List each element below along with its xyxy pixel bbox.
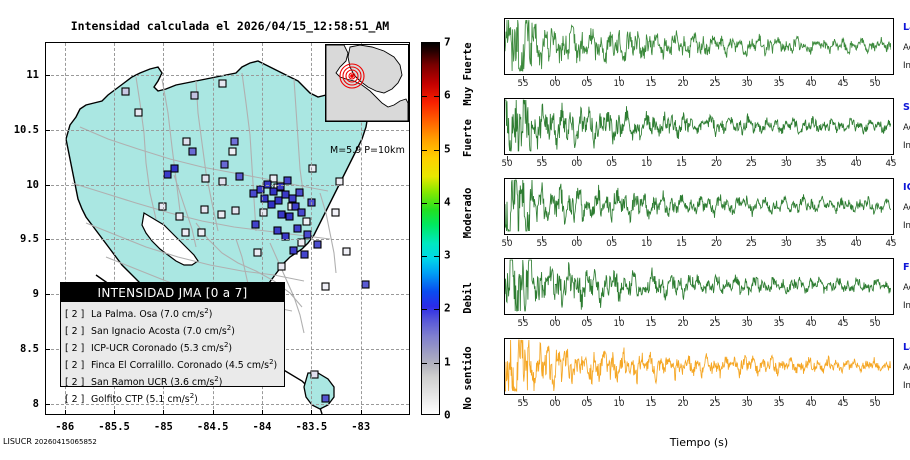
trace-station-name[interactable]: ICP-UCR Coronado (903, 182, 910, 193)
time-tick-label: 55 (518, 79, 529, 89)
trace-peak-accel: Acel. Max. 1.9 (903, 283, 910, 293)
y-tick-label-4: 9 (1, 288, 39, 300)
map-gridline-h (46, 239, 409, 240)
trace-jma-intensity: Int JMA: 2 (903, 61, 910, 71)
time-tick-label: 10 (614, 399, 625, 409)
colorbar-tick-right (434, 96, 439, 97)
colorbar-category-1: Fuerte (462, 119, 474, 157)
trace-jma-intensity: Int JMA: 2 (903, 221, 910, 231)
time-tick-label: 35 (774, 399, 785, 409)
time-tick-label: 45 (886, 239, 897, 249)
trace-time-axis: 505500051015202530354045 (504, 236, 894, 250)
colorbar-category-3: Debil (462, 282, 474, 314)
trace-station-name[interactable]: Finca El Corralillo, Coro (903, 262, 910, 273)
trace-peak-accel: Acel. Max. 1.9 (903, 203, 910, 213)
waveform (505, 19, 891, 72)
page-title: Intensidad calculada el 2026/04/15_12:58… (40, 19, 420, 33)
legend-row-close: ) (194, 394, 198, 405)
time-tick-label: 55 (518, 399, 529, 409)
y-tick-label-5: 8.5 (1, 343, 39, 355)
trace-time-axis: 550005101520253035404550 (504, 396, 894, 410)
trace-station-name[interactable]: La Sabana (903, 342, 910, 353)
colorbar-tick-0: 0 (444, 409, 451, 422)
time-tick-label: 55 (536, 239, 547, 249)
colorbar-tick-2: 2 (444, 302, 451, 315)
time-tick-label: 00 (571, 159, 582, 169)
x-tick (213, 410, 214, 415)
map-gridline-h (46, 130, 409, 131)
time-tick-label: 00 (550, 319, 561, 329)
intensity-map-panel: Intensidad calculada el 2026/04/15_12:58… (0, 0, 500, 460)
time-tick-label: 40 (851, 159, 862, 169)
time-tick-label: 15 (646, 399, 657, 409)
time-tick-label: 45 (886, 159, 897, 169)
time-tick-label: 35 (774, 79, 785, 89)
legend-row: [ 2 ]ICP-UCR Coronado (5.3 cm/s2) (65, 339, 284, 356)
time-tick-label: 55 (518, 319, 529, 329)
time-tick-label: 20 (711, 239, 722, 249)
seismogram-trace-frame[interactable] (504, 258, 894, 315)
legend-title: INTENSIDAD JMA [0 a 7] (61, 283, 284, 302)
x-tick (262, 410, 263, 415)
x-tick (311, 410, 312, 415)
watermark-stamp: 20260415065852 (34, 438, 96, 446)
legend-row-station: San Ignacio Acosta (7.0 cm/s (91, 326, 227, 337)
time-tick-label: 45 (838, 319, 849, 329)
time-tick-label: 45 (838, 399, 849, 409)
time-tick-label: 25 (710, 319, 721, 329)
colorbar-tick-right (434, 203, 439, 204)
x-tick (361, 410, 362, 415)
time-tick-label: 05 (606, 159, 617, 169)
time-tick-label: 20 (678, 319, 689, 329)
time-tick-label: 30 (781, 239, 792, 249)
x-tick-label-4: -84 (253, 421, 272, 433)
trace-jma-intensity: Int JMA: 2 (903, 301, 910, 311)
colorbar-category-2: Moderado (462, 187, 474, 238)
x-tick (114, 410, 115, 415)
x-tick-label-2: -85 (154, 421, 173, 433)
time-tick-label: 35 (816, 159, 827, 169)
time-tick-label: 00 (550, 79, 561, 89)
time-tick-label: 35 (774, 319, 785, 329)
regional-inset-map (325, 44, 409, 122)
seismogram-trace-frame[interactable] (504, 98, 894, 155)
colorbar-category-0: Muy Fuerte (462, 42, 474, 105)
intensity-colorbar (421, 42, 440, 415)
colorbar-tick-right (434, 309, 439, 310)
legend-row-station: Finca El Corralillo. Coronado (4.5 cm/s (91, 360, 269, 371)
time-tick-label: 45 (838, 79, 849, 89)
time-tick-label: 40 (806, 79, 817, 89)
time-tick-label: 05 (582, 399, 593, 409)
watermark: LISUCR 20260415065852 (3, 437, 97, 446)
time-tick-label: 20 (678, 79, 689, 89)
time-tick-label: 15 (646, 319, 657, 329)
time-tick-label: 50 (870, 319, 881, 329)
y-tick (45, 404, 50, 405)
colorbar-tick-left (422, 256, 427, 257)
time-tick-label: 50 (502, 159, 513, 169)
colorbar-tick-left (422, 363, 427, 364)
trace-time-axis: 550005101520253035404550 (504, 76, 894, 90)
time-tick-label: 05 (582, 79, 593, 89)
trace-station-name[interactable]: La Palma, Osa (903, 22, 910, 33)
trace-time-axis: 505500051015202530354045 (504, 156, 894, 170)
x-tick-label-0: -86 (55, 421, 74, 433)
trace-peak-accel: Acel. Max. 1.9 (903, 123, 910, 133)
legend-row-station: Golfito CTP (5.1 cm/s (91, 394, 190, 405)
colorbar-tick-right (434, 363, 439, 364)
time-tick-label: 30 (742, 399, 753, 409)
legend-row-index: [ 2 ] (65, 342, 91, 356)
time-tick-label: 25 (710, 399, 721, 409)
time-tick-label: 20 (678, 399, 689, 409)
time-tick-label: 30 (781, 159, 792, 169)
y-tick-label-6: 8 (1, 398, 39, 410)
time-tick-label: 10 (641, 239, 652, 249)
colorbar-tick-right (434, 150, 439, 151)
waveform (505, 259, 891, 312)
intensity-legend: INTENSIDAD JMA [0 a 7] [ 2 ]La Palma. Os… (60, 282, 285, 387)
legend-row-index: [ 2 ] (65, 359, 91, 373)
legend-row-station: San Ramon UCR (3.6 cm/s (91, 377, 214, 388)
trace-time-axis: 550005101520253035404550 (504, 316, 894, 330)
colorbar-tick-4: 4 (444, 195, 451, 208)
y-tick (45, 239, 50, 240)
trace-station-name[interactable]: San Ignacio Acosta (903, 102, 910, 113)
legend-row: [ 2 ]San Ramon UCR (3.6 cm/s2) (65, 373, 284, 390)
legend-row-close: ) (228, 343, 232, 354)
time-tick-label: 50 (870, 399, 881, 409)
colorbar-tick-right (434, 256, 439, 257)
time-tick-label: 05 (582, 319, 593, 329)
time-tick-label: 30 (742, 79, 753, 89)
time-tick-label: 10 (641, 159, 652, 169)
waveform (505, 99, 891, 152)
time-tick-label: 25 (710, 79, 721, 89)
time-tick-label: 50 (502, 239, 513, 249)
y-tick-label-2: 10 (1, 179, 39, 191)
colorbar-tick-7: 7 (444, 36, 451, 49)
legend-row-index: [ 2 ] (65, 325, 91, 339)
seismogram-panel: 550005101520253035404550La Palma, OsaAce… (500, 0, 910, 460)
y-tick-label-3: 9.5 (1, 233, 39, 245)
x-tick (163, 410, 164, 415)
legend-row-close: ) (219, 377, 223, 388)
waveform (505, 339, 891, 392)
trace-peak-accel: Acel. Max. 1.9 (903, 43, 910, 53)
colorbar-tick-1: 1 (444, 355, 451, 368)
colorbar-category-4: No sentido (462, 346, 474, 409)
colorbar-tick-left (422, 96, 427, 97)
y-tick (45, 349, 50, 350)
time-tick-label: 10 (614, 79, 625, 89)
watermark-prefix: LISUCR (3, 437, 32, 446)
colorbar-tick-left (422, 203, 427, 204)
time-tick-label: 25 (746, 159, 757, 169)
legend-row-index: [ 2 ] (65, 376, 91, 390)
y-tick-label-0: 11 (1, 69, 39, 81)
colorbar-tick-5: 5 (444, 142, 451, 155)
legend-row-station: ICP-UCR Coronado (5.3 cm/s (91, 343, 224, 354)
time-tick-label: 15 (646, 79, 657, 89)
time-tick-label: 40 (851, 239, 862, 249)
trace-peak-accel: Acel. Max. 1.3 (903, 363, 910, 373)
legend-row-index: [ 2 ] (65, 393, 91, 407)
colorbar-tick-left (422, 150, 427, 151)
legend-row: [ 2 ]Golfito CTP (5.1 cm/s2) (65, 390, 284, 407)
x-tick-label-3: -84.5 (197, 421, 229, 433)
time-tick-label: 40 (806, 319, 817, 329)
legend-row-station: La Palma. Osa (7.0 cm/s (91, 309, 204, 320)
colorbar-tick-6: 6 (444, 89, 451, 102)
legend-row: [ 2 ]La Palma. Osa (7.0 cm/s2) (65, 305, 284, 322)
legend-row-close: ) (274, 360, 278, 371)
y-tick (45, 294, 50, 295)
time-tick-label: 15 (676, 159, 687, 169)
time-tick-label: 00 (550, 399, 561, 409)
colorbar-gradient (422, 43, 439, 414)
y-tick (45, 185, 50, 186)
x-tick-label-1: -85.5 (98, 421, 130, 433)
time-tick-label: 05 (606, 239, 617, 249)
time-tick-label: 10 (614, 319, 625, 329)
time-tick-label: 35 (816, 239, 827, 249)
seismogram-trace-frame[interactable] (504, 18, 894, 75)
x-tick (65, 410, 66, 415)
time-tick-label: 00 (571, 239, 582, 249)
legend-row-index: [ 2 ] (65, 308, 91, 322)
time-tick-label: 40 (806, 399, 817, 409)
xaxis-title: Tiempo (s) (504, 436, 894, 449)
waveform (505, 179, 891, 232)
event-magnitude-label: M=5.9 P=10km (330, 145, 405, 156)
trace-jma-intensity: Int JMA: 1 (903, 381, 910, 391)
y-tick-label-1: 10.5 (1, 124, 39, 136)
time-tick-label: 20 (711, 159, 722, 169)
x-tick-label-5: -83.5 (296, 421, 328, 433)
legend-row: [ 2 ]Finca El Corralillo. Coronado (4.5 … (65, 356, 284, 373)
map-gridline-h (46, 185, 409, 186)
seismogram-trace-frame[interactable] (504, 338, 894, 395)
time-tick-label: 15 (676, 239, 687, 249)
trace-jma-intensity: Int JMA: 2 (903, 141, 910, 151)
time-tick-label: 50 (870, 79, 881, 89)
legend-row-close: ) (209, 309, 213, 320)
legend-row: [ 2 ]San Ignacio Acosta (7.0 cm/s2) (65, 322, 284, 339)
y-tick (45, 75, 50, 76)
map-gridline-v (311, 43, 312, 414)
time-tick-label: 55 (536, 159, 547, 169)
time-tick-label: 30 (742, 319, 753, 329)
legend-row-close: ) (231, 326, 235, 337)
y-tick (45, 130, 50, 131)
legend-rows: [ 2 ]La Palma. Osa (7.0 cm/s2)[ 2 ]San I… (61, 302, 284, 407)
seismogram-trace-frame[interactable] (504, 178, 894, 235)
colorbar-tick-left (422, 309, 427, 310)
colorbar-tick-3: 3 (444, 249, 451, 262)
x-tick-label-6: -83 (351, 421, 370, 433)
time-tick-label: 25 (746, 239, 757, 249)
